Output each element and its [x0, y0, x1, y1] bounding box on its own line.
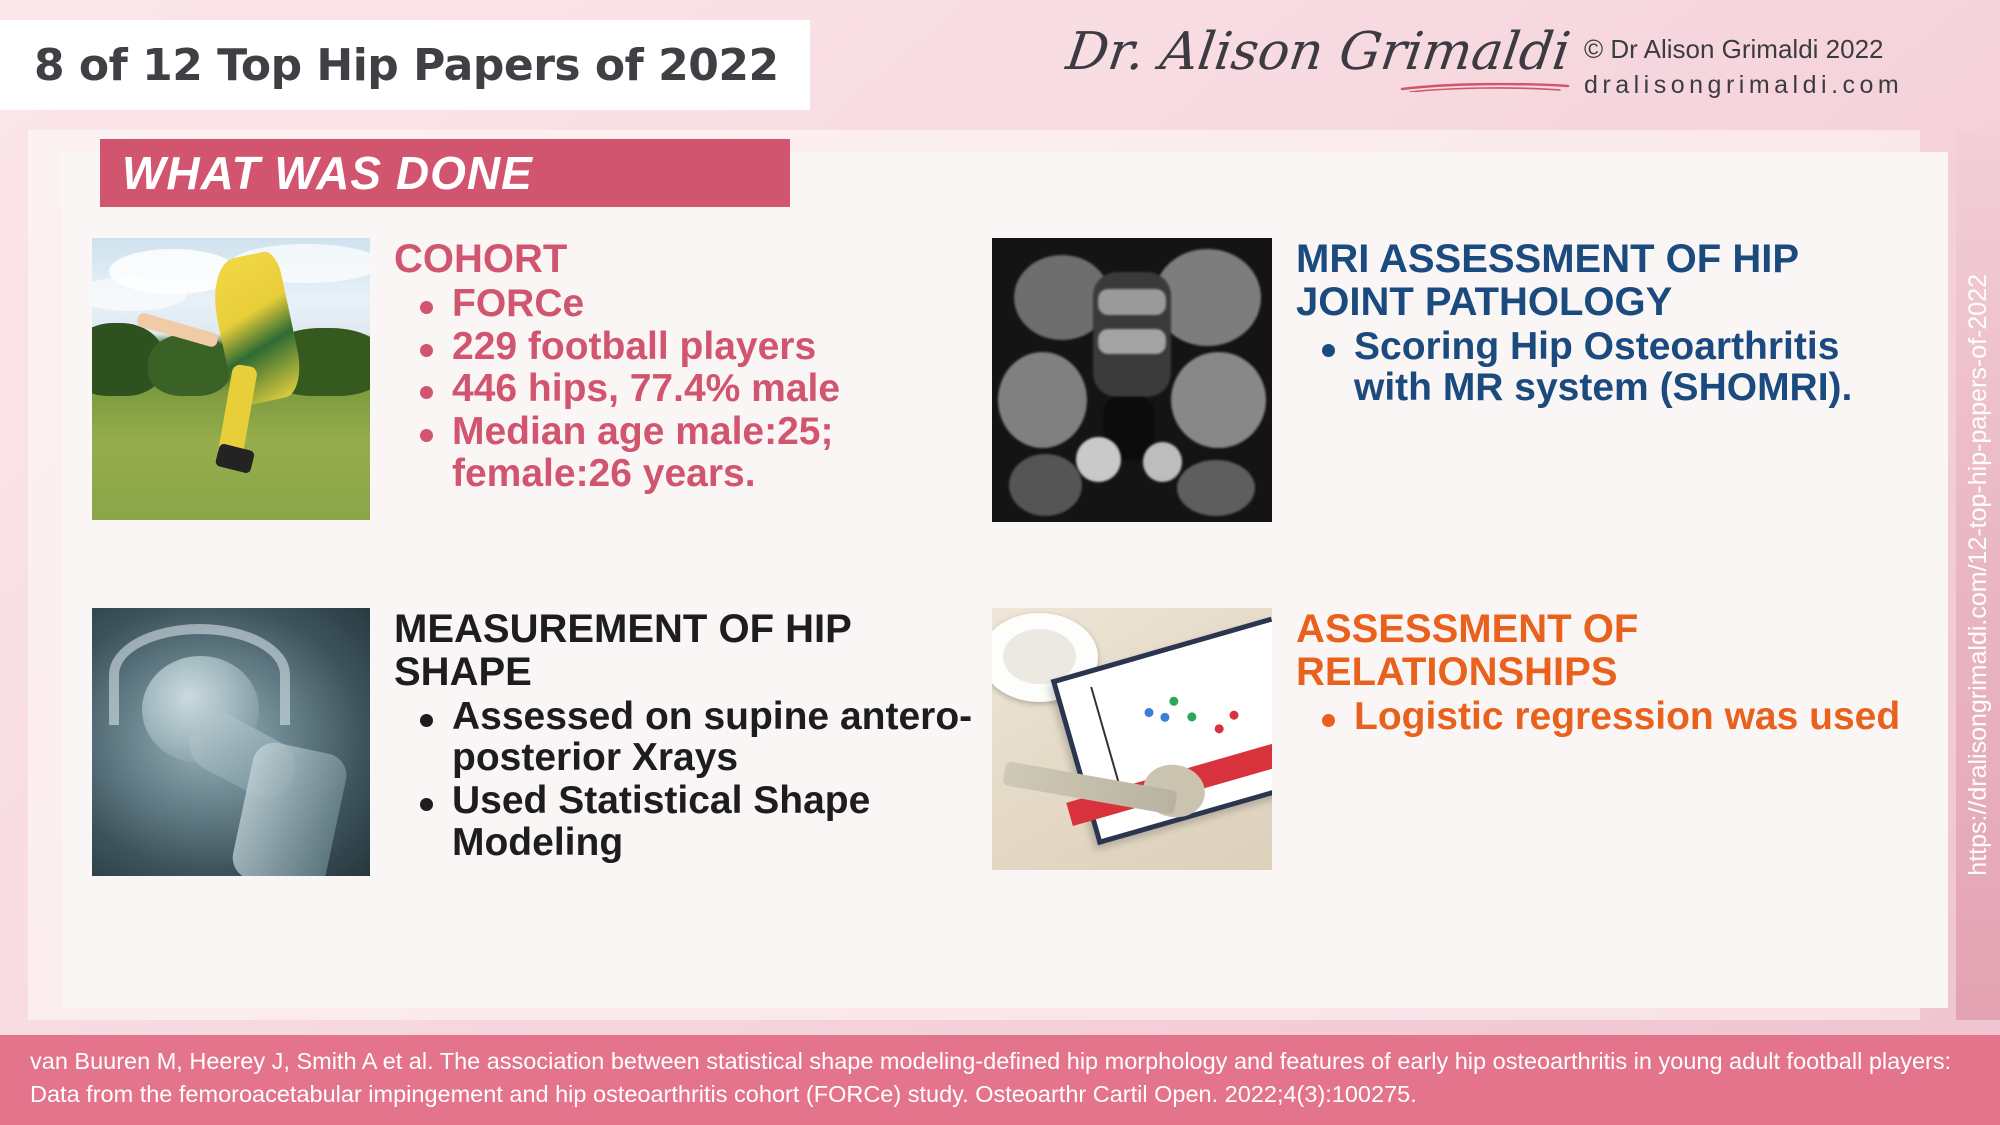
- list-item: Assessed on supine antero-posterior Xray…: [452, 696, 992, 779]
- section-banner: WHAT WAS DONE: [100, 139, 790, 207]
- signature-text: Dr. Alison Grimaldi: [1064, 26, 1574, 78]
- list-item: FORCe: [452, 283, 992, 325]
- tablet-chart-photo: [992, 608, 1272, 870]
- content-row-top: COHORT FORCe 229 football players 446 hi…: [92, 238, 1910, 608]
- list-item: Scoring Hip Osteoarthritis with MR syste…: [1354, 326, 1902, 409]
- section-bullets: Assessed on supine antero-posterior Xray…: [394, 696, 992, 864]
- list-item: Median age male:25; female:26 years.: [452, 411, 992, 494]
- section-heading: COHORT: [394, 238, 992, 281]
- section-heading: MRI ASSESSMENT OF HIP JOINT PATHOLOGY: [1296, 238, 1902, 324]
- list-item: 229 football players: [452, 326, 992, 368]
- content-grid: COHORT FORCe 229 football players 446 hi…: [92, 238, 1910, 998]
- list-item: 446 hips, 77.4% male: [452, 368, 992, 410]
- hip-shape-text: MEASUREMENT OF HIP SHAPE Assessed on sup…: [370, 608, 992, 864]
- banner-label: WHAT WAS DONE: [122, 146, 533, 200]
- section-relationships: ASSESSMENT OF RELATIONSHIPS Logistic reg…: [992, 608, 1902, 953]
- footer-citation-bar: van Buuren M, Heerey J, Smith A et al. T…: [0, 1035, 2000, 1125]
- mri-text: MRI ASSESSMENT OF HIP JOINT PATHOLOGY Sc…: [1272, 238, 1902, 410]
- list-item: Used Statistical Shape Modeling: [452, 780, 992, 863]
- relationships-text: ASSESSMENT OF RELATIONSHIPS Logistic reg…: [1272, 608, 1902, 738]
- hip-xray-photo: [92, 608, 370, 876]
- section-bullets: Scoring Hip Osteoarthritis with MR syste…: [1296, 326, 1902, 409]
- hip-mri-scan-photo: [992, 238, 1272, 522]
- brand-signature: Dr. Alison Grimaldi: [1067, 26, 1570, 92]
- page-title: 8 of 12 Top Hip Papers of 2022: [34, 40, 779, 91]
- section-bullets: FORCe 229 football players 446 hips, 77.…: [394, 283, 992, 495]
- side-url-strip[interactable]: https://dralisongrimaldi.com/12-top-hip-…: [1956, 130, 2000, 1020]
- citation-text: van Buuren M, Heerey J, Smith A et al. T…: [30, 1045, 1970, 1112]
- slide-root: 8 of 12 Top Hip Papers of 2022 Dr. Aliso…: [0, 0, 2000, 1125]
- section-cohort: COHORT FORCe 229 football players 446 hi…: [92, 238, 992, 608]
- section-heading: MEASUREMENT OF HIP SHAPE: [394, 608, 992, 694]
- section-mri: MRI ASSESSMENT OF HIP JOINT PATHOLOGY Sc…: [992, 238, 1902, 608]
- content-row-bottom: MEASUREMENT OF HIP SHAPE Assessed on sup…: [92, 608, 1910, 953]
- list-item: Logistic regression was used: [1354, 696, 1902, 738]
- football-player-photo: [92, 238, 370, 520]
- website-text: dralisongrimaldi.com: [1584, 71, 1974, 100]
- section-bullets: Logistic regression was used: [1296, 696, 1902, 738]
- cohort-text: COHORT FORCe 229 football players 446 hi…: [370, 238, 992, 495]
- copyright-text: © Dr Alison Grimaldi 2022: [1584, 34, 1974, 65]
- credits-block: © Dr Alison Grimaldi 2022 dralisongrimal…: [1584, 34, 1974, 100]
- signature-underline-icon: [1400, 82, 1570, 92]
- section-hip-shape: MEASUREMENT OF HIP SHAPE Assessed on sup…: [92, 608, 992, 953]
- title-plate: 8 of 12 Top Hip Papers of 2022: [0, 20, 810, 110]
- section-heading: ASSESSMENT OF RELATIONSHIPS: [1296, 608, 1902, 694]
- side-url-text: https://dralisongrimaldi.com/12-top-hip-…: [1964, 274, 1993, 876]
